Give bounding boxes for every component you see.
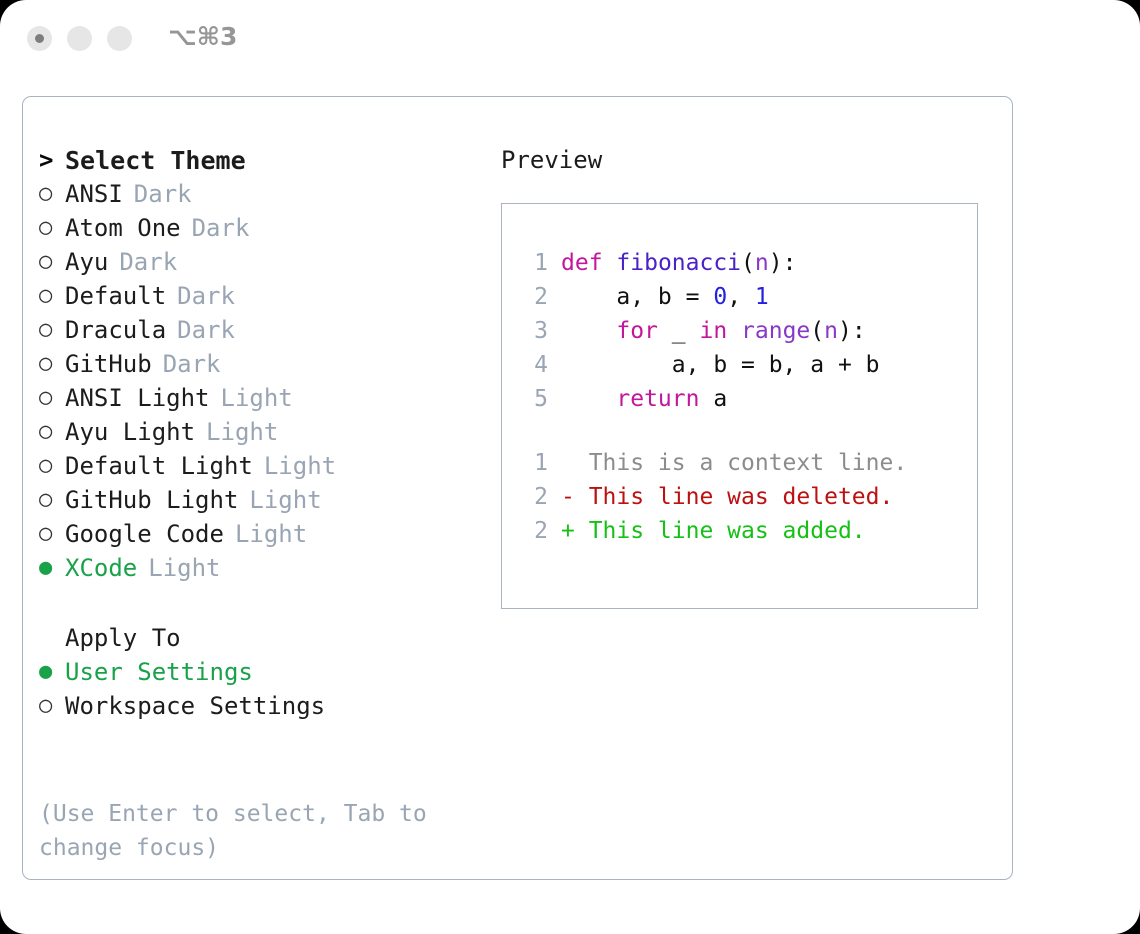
code-line: 5 return a (518, 382, 968, 416)
line-text: def fibonacci(n): (561, 250, 796, 276)
code-token: ( (741, 250, 755, 276)
theme-option-name: ANSI Light (65, 384, 210, 412)
code-line: 3 for _ in range(n): (518, 314, 968, 348)
theme-option-variant: Dark (177, 316, 235, 344)
spacer (518, 416, 968, 446)
theme-option-name: Dracula (65, 316, 166, 344)
diff-line: 1 This is a context line. (518, 446, 968, 480)
radio-selected-icon: ● (39, 557, 65, 579)
theme-option-variant: Light (148, 554, 220, 582)
theme-option-variant: Dark (119, 248, 177, 276)
keyboard-shortcut-label: ⌥⌘3 (168, 22, 237, 51)
code-token: ): (838, 318, 866, 344)
theme-option-name: Atom One (65, 214, 181, 242)
code-token (561, 318, 616, 344)
theme-option[interactable]: ○Google CodeLight (39, 517, 479, 551)
radio-selected-icon: ● (39, 661, 65, 683)
theme-option[interactable]: ○DraculaDark (39, 313, 479, 347)
close-dot-icon (35, 34, 44, 43)
line-number: 2 (518, 518, 548, 544)
line-number: 2 (518, 484, 548, 510)
apply-to-option-name: Workspace Settings (65, 692, 325, 720)
radio-unselected-icon: ○ (39, 455, 65, 477)
code-token: - This line was deleted. (561, 484, 893, 510)
theme-option-name: Default Light (65, 452, 253, 480)
radio-unselected-icon: ○ (39, 217, 65, 239)
code-token: n (755, 250, 769, 276)
code-token: a, b = b, a + b (561, 352, 880, 378)
code-token: range (741, 318, 810, 344)
code-token: n (824, 318, 838, 344)
radio-unselected-icon: ○ (39, 353, 65, 375)
keyboard-hint-text: (Use Enter to select, Tab to change focu… (39, 797, 459, 865)
line-number: 4 (518, 352, 548, 378)
radio-unselected-icon: ○ (39, 695, 65, 717)
theme-option-name: Ayu Light (65, 418, 195, 446)
theme-option[interactable]: ○Default LightLight (39, 449, 479, 483)
code-token: for (616, 318, 658, 344)
code-line: 4 a, b = b, a + b (518, 348, 968, 382)
titlebar: ⌥⌘3 (0, 0, 1140, 80)
code-token: in (699, 318, 727, 344)
theme-picker-panel: >Select Theme○ANSIDark○Atom OneDark○AyuD… (22, 96, 1013, 880)
theme-option-variant: Light (249, 486, 321, 514)
code-token: a (699, 386, 727, 412)
theme-option[interactable]: ○GitHubDark (39, 347, 479, 381)
theme-option-variant: Light (235, 520, 307, 548)
line-number: 5 (518, 386, 548, 412)
radio-unselected-icon: ○ (39, 251, 65, 273)
code-token: + This line was added. (561, 518, 866, 544)
theme-option-name: Default (65, 282, 166, 310)
theme-option-name: GitHub (65, 350, 152, 378)
line-number: 1 (518, 450, 548, 476)
theme-option-name: XCode (65, 554, 137, 582)
spacer (39, 585, 479, 621)
theme-option-name: Google Code (65, 520, 224, 548)
apply-to-option[interactable]: ○Workspace Settings (39, 689, 479, 723)
code-token: 0 (713, 284, 727, 310)
radio-unselected-icon: ○ (39, 319, 65, 341)
code-line: 1def fibonacci(n): (518, 246, 968, 280)
radio-unselected-icon: ○ (39, 387, 65, 409)
line-text: for _ in range(n): (561, 318, 866, 344)
code-token: 1 (755, 284, 769, 310)
preview-box: 1def fibonacci(n):2 a, b = 0, 13 for _ i… (501, 203, 978, 609)
theme-option-variant: Dark (177, 282, 235, 310)
code-token: This is a context line. (561, 450, 907, 476)
preview-title: Preview (501, 143, 991, 177)
app-window: ⌥⌘3 >Select Theme○ANSIDark○Atom OneDark○… (0, 0, 1140, 934)
theme-option-name: ANSI (65, 180, 123, 208)
radio-unselected-icon: ○ (39, 183, 65, 205)
code-line: 2 a, b = 0, 1 (518, 280, 968, 314)
diff-line: 2- This line was deleted. (518, 480, 968, 514)
theme-option[interactable]: ○Atom OneDark (39, 211, 479, 245)
line-number: 2 (518, 284, 548, 310)
apply-to-option-name: User Settings (65, 658, 253, 686)
line-number: 3 (518, 318, 548, 344)
theme-option-name: GitHub Light (65, 486, 238, 514)
theme-option[interactable]: ○DefaultDark (39, 279, 479, 313)
theme-list-heading: >Select Theme (39, 143, 479, 177)
line-text: This is a context line. (561, 450, 907, 476)
theme-option-variant: Dark (163, 350, 221, 378)
theme-option-variant: Dark (192, 214, 250, 242)
apply-to-heading: Apply To (39, 621, 479, 655)
theme-option[interactable]: ○AyuDark (39, 245, 479, 279)
line-text: return a (561, 386, 727, 412)
line-text: a, b = b, a + b (561, 352, 880, 378)
apply-to-label: Apply To (65, 624, 181, 652)
theme-list-heading-label: Select Theme (65, 146, 246, 175)
close-button[interactable] (27, 26, 52, 51)
code-token: def (561, 250, 603, 276)
line-text: + This line was added. (561, 518, 866, 544)
code-token (603, 250, 617, 276)
radio-unselected-icon: ○ (39, 523, 65, 545)
maximize-button[interactable] (107, 26, 132, 51)
theme-option[interactable]: ●XCodeLight (39, 551, 479, 585)
theme-option-variant: Dark (134, 180, 192, 208)
theme-option-variant: Light (221, 384, 293, 412)
theme-option[interactable]: ○GitHub LightLight (39, 483, 479, 517)
code-token: _ (658, 318, 700, 344)
radio-unselected-icon: ○ (39, 285, 65, 307)
line-text: - This line was deleted. (561, 484, 893, 510)
code-token: fibonacci (616, 250, 741, 276)
code-token (727, 318, 741, 344)
radio-unselected-icon: ○ (39, 421, 65, 443)
theme-option[interactable]: ○Ayu LightLight (39, 415, 479, 449)
code-preview: 1def fibonacci(n):2 a, b = 0, 13 for _ i… (518, 246, 968, 548)
radio-unselected-icon: ○ (39, 489, 65, 511)
line-number: 1 (518, 250, 548, 276)
theme-option-variant: Light (264, 452, 336, 480)
code-token: , (727, 284, 755, 310)
code-token (561, 386, 616, 412)
apply-to-option[interactable]: ●User Settings (39, 655, 479, 689)
code-token: a, b = (561, 284, 713, 310)
apply-to-marker (39, 627, 65, 649)
code-token: ): (769, 250, 797, 276)
code-token: return (616, 386, 699, 412)
theme-option-name: Ayu (65, 248, 108, 276)
theme-option[interactable]: ○ANSIDark (39, 177, 479, 211)
minimize-button[interactable] (67, 26, 92, 51)
preview-column: Preview (501, 143, 991, 177)
caret-icon: > (39, 148, 65, 172)
diff-line: 2+ This line was added. (518, 514, 968, 548)
line-text: a, b = 0, 1 (561, 284, 769, 310)
theme-list-column: >Select Theme○ANSIDark○Atom OneDark○AyuD… (39, 143, 479, 723)
theme-option-variant: Light (206, 418, 278, 446)
theme-option[interactable]: ○ANSI LightLight (39, 381, 479, 415)
code-token: ( (810, 318, 824, 344)
